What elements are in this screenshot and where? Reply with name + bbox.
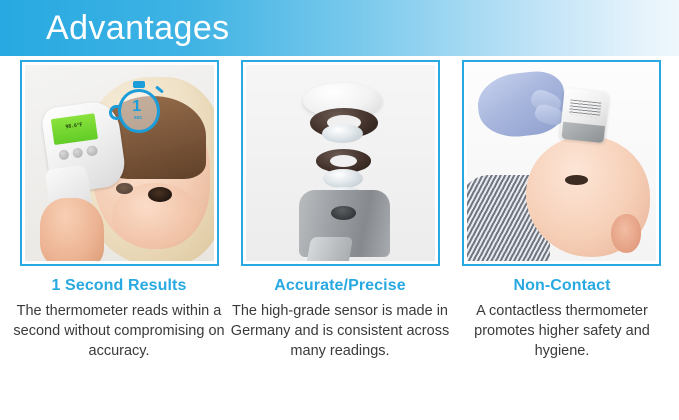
baby-eye-shape xyxy=(565,175,588,185)
lcd-reading: 98.6°F xyxy=(52,121,96,133)
thermometer-baby-photo: 98.6°F 1 sec xyxy=(25,65,214,261)
thermometer-button-row xyxy=(58,145,98,161)
thermometer-device-shape xyxy=(559,88,609,143)
card-one-second-results[interactable]: 98.6°F 1 sec xyxy=(20,60,219,266)
stopwatch-unit: sec xyxy=(134,115,142,121)
caption-non-contact: Non-Contact A contactless thermometer pr… xyxy=(448,276,676,361)
caption-title: Accurate/Precise xyxy=(227,276,453,296)
caption-title: Non-Contact xyxy=(448,276,676,296)
hand-shape xyxy=(40,198,104,261)
caption-one-second-results: 1 Second Results The thermometer reads w… xyxy=(6,276,232,361)
baby-eye-secondary-shape xyxy=(116,183,133,195)
page-header: Advantages xyxy=(0,0,679,56)
gloved-hand-baby-photo xyxy=(467,65,656,261)
sensor-stem-shape xyxy=(305,237,353,261)
thermometer-button xyxy=(58,149,70,161)
card-accurate-precise[interactable] xyxy=(241,60,440,266)
card-non-contact[interactable] xyxy=(462,60,661,266)
thermometer-button xyxy=(72,147,84,159)
device-label-shape xyxy=(569,100,601,118)
sensor-port-shape xyxy=(331,206,356,220)
stopwatch-icon: 1 sec xyxy=(110,79,167,138)
thermometer-button xyxy=(86,146,98,158)
stopwatch-crown xyxy=(133,81,145,88)
ring-hole xyxy=(330,155,357,167)
sensor-lens-upper xyxy=(322,124,364,144)
sensor-lens-middle xyxy=(323,169,363,189)
caption-body: The thermometer reads within a second wi… xyxy=(6,301,232,361)
page-title: Advantages xyxy=(46,8,230,48)
stopwatch-tick xyxy=(156,86,165,94)
baby-ear-shape xyxy=(611,214,641,253)
stopwatch-number: 1 xyxy=(110,99,163,115)
lcd-display: 98.6°F xyxy=(51,114,98,146)
sensor-exploded-view-photo xyxy=(246,65,435,261)
caption-title: 1 Second Results xyxy=(6,276,232,296)
caption-body: A contactless thermometer promotes highe… xyxy=(448,301,676,361)
caption-body: The high-grade sensor is made in Germany… xyxy=(227,301,453,361)
card-grid: 98.6°F 1 sec xyxy=(0,60,679,268)
caption-accurate-precise: Accurate/Precise The high-grade sensor i… xyxy=(227,276,453,361)
